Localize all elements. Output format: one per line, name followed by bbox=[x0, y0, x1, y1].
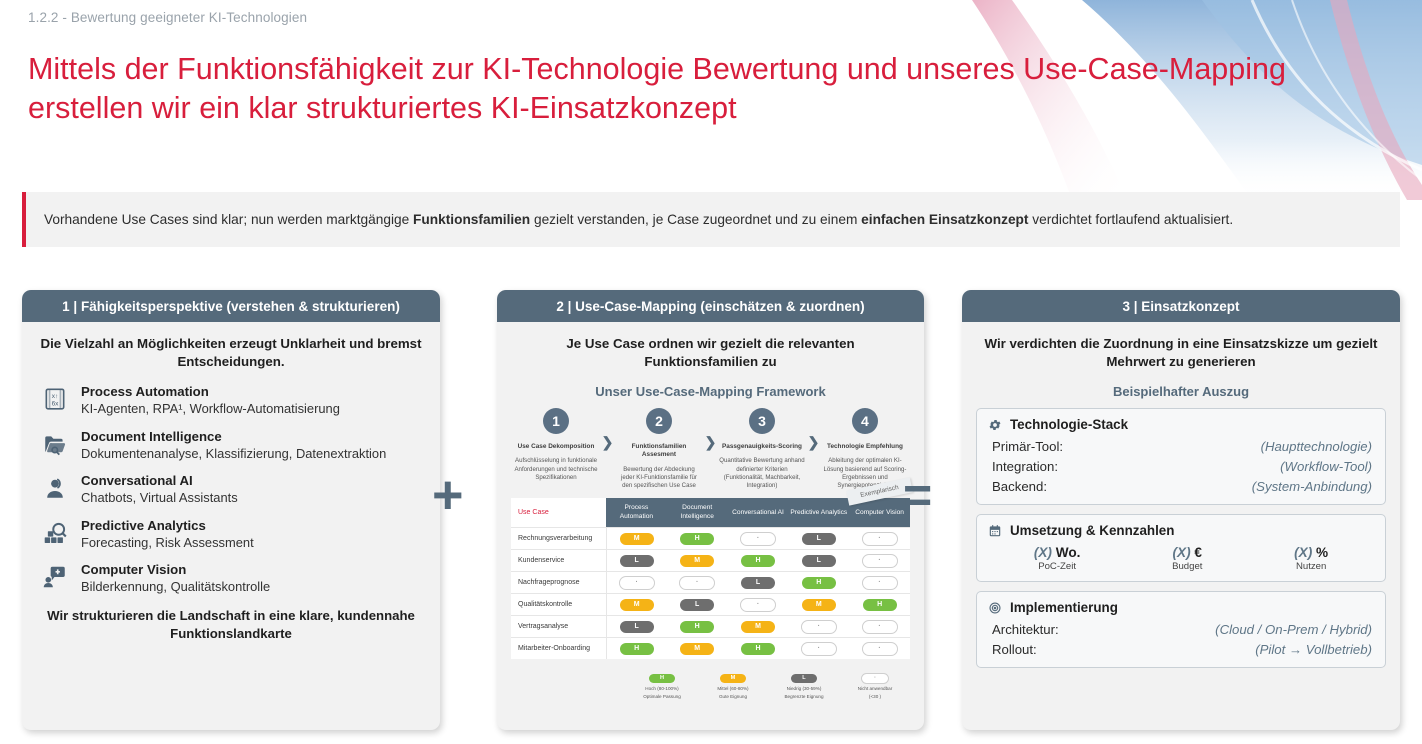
card-tech-title: Technologie-Stack bbox=[1010, 417, 1128, 432]
rating-badge: · bbox=[862, 554, 898, 568]
legend-label-2: Begrenzte Eignung bbox=[773, 694, 835, 700]
use-case-matrix: Use CaseProcess AutomationDocument Intel… bbox=[511, 498, 910, 659]
rating-badge: · bbox=[862, 620, 898, 634]
panel1-footer: Wir strukturieren die Landschaft in eine… bbox=[40, 607, 422, 643]
legend-badge: M bbox=[720, 674, 746, 683]
rating-badge: H bbox=[620, 643, 654, 655]
rating-badge: L bbox=[741, 577, 775, 589]
matrix-cell: · bbox=[728, 594, 789, 616]
card-umsetzung-kennzahlen: Umsetzung & Kennzahlen (X) Wo.PoC-Zeit(X… bbox=[976, 514, 1386, 582]
rating-badge: H bbox=[802, 577, 836, 589]
legend-label-2: Optimale Passung bbox=[631, 694, 693, 700]
matrix-column-header: Conversational AI bbox=[728, 498, 789, 528]
legend-badge: L bbox=[791, 674, 817, 683]
panel-einsatzkonzept: 3 | Einsatzkonzept Wir verdichten die Zu… bbox=[962, 290, 1400, 730]
rating-badge: H bbox=[741, 643, 775, 655]
framework-step: 2Funktionsfamilien AssesmentBewertung de… bbox=[616, 408, 702, 490]
capability-title: Process Automation bbox=[81, 384, 340, 400]
rating-badge: · bbox=[740, 598, 776, 612]
capability-desc: Chatbots, Virtual Assistants bbox=[81, 490, 238, 507]
slide-kicker: 1.2.2 - Bewertung geeigneter KI-Technolo… bbox=[28, 10, 307, 25]
matrix-cell: · bbox=[849, 572, 910, 594]
spec-key: Architektur: bbox=[992, 622, 1059, 637]
legend-item: ·Nicht anwendbar(<30 ) bbox=[844, 666, 906, 700]
step-number: 3 bbox=[749, 408, 775, 434]
panel-faehigkeitsperspektive: 1 | Fähigkeitsperspektive (verstehen & s… bbox=[22, 290, 440, 730]
callout-bold-2: einfachen Einsatzkonzept bbox=[861, 212, 1028, 227]
card-kpi-title: Umsetzung & Kennzahlen bbox=[1010, 523, 1174, 538]
rating-badge: M bbox=[802, 599, 836, 611]
matrix-cell: M bbox=[667, 638, 728, 660]
step-title: Passgenauigkeits-Scoring bbox=[719, 443, 805, 451]
chevron-right-icon: ❯ bbox=[602, 434, 614, 451]
rating-badge: · bbox=[679, 576, 715, 590]
matrix-row-label: Kundenservice bbox=[511, 550, 606, 572]
matrix-cell: L bbox=[606, 550, 667, 572]
card-impl-title: Implementierung bbox=[1010, 600, 1118, 615]
kpi-value: (X) % bbox=[1294, 545, 1328, 560]
legend-label-1: Niedrig (30-59%) bbox=[773, 686, 835, 692]
kpi-item: (X) %Nutzen bbox=[1294, 545, 1328, 572]
framework-step: 3Passgenauigkeits-ScoringQuantitative Be… bbox=[719, 408, 805, 490]
computer-vision-icon bbox=[40, 562, 70, 592]
framework-step: 1Use Case DekompositionAufschlüsselung i… bbox=[513, 408, 599, 482]
spec-row: Rollout:(Pilot → Vollbetrieb) bbox=[988, 639, 1374, 659]
capability-item: Predictive AnalyticsForecasting, Risk As… bbox=[40, 518, 426, 552]
matrix-cell: M bbox=[606, 528, 667, 550]
panel1-header: 1 | Fähigkeitsperspektive (verstehen & s… bbox=[22, 290, 440, 322]
spec-row: Primär-Tool:(Haupttechnologie) bbox=[988, 436, 1374, 456]
panel3-lead: Wir verdichten die Zuordnung in eine Ein… bbox=[976, 335, 1386, 371]
matrix-cell: · bbox=[788, 638, 849, 660]
kpi-item: (X) €Budget bbox=[1172, 545, 1202, 572]
legend-label-1: Nicht anwendbar bbox=[844, 686, 906, 692]
capability-title: Document Intelligence bbox=[81, 429, 386, 445]
spec-value: (Haupttechnologie) bbox=[1261, 439, 1372, 454]
matrix-wrapper: Exemplarisch Use CaseProcess AutomationD… bbox=[511, 498, 910, 700]
predictive-analytics-icon bbox=[40, 518, 70, 548]
matrix-row-label: Qualitätskontrolle bbox=[511, 594, 606, 616]
framework-step: 4Technologie EmpfehlungAbleitung der opt… bbox=[822, 408, 908, 490]
capability-item: Document IntelligenceDokumentenanalyse, … bbox=[40, 429, 426, 463]
legend-label-2: (<30 ) bbox=[844, 694, 906, 700]
step-number: 2 bbox=[646, 408, 672, 434]
table-row: VertragsanalyseLHM·· bbox=[511, 616, 910, 638]
rating-badge: H bbox=[680, 533, 714, 545]
rating-badge: · bbox=[740, 532, 776, 546]
framework-steps: 1Use Case DekompositionAufschlüsselung i… bbox=[513, 408, 908, 490]
panel1-lead: Die Vielzahl an Möglichkeiten erzeugt Un… bbox=[36, 335, 426, 371]
matrix-cell: · bbox=[849, 550, 910, 572]
rating-badge: · bbox=[801, 620, 837, 634]
matrix-legend: HHoch (80-100%)Optimale PassungMMittel (… bbox=[511, 666, 910, 700]
process-automation-icon: x↑6x bbox=[40, 384, 70, 414]
legend-badge: · bbox=[861, 673, 889, 684]
matrix-cell: · bbox=[849, 528, 910, 550]
capability-title: Conversational AI bbox=[81, 473, 238, 489]
kpi-label: PoC-Zeit bbox=[1034, 561, 1081, 572]
matrix-cell: · bbox=[728, 528, 789, 550]
callout-bold-1: Funktionsfamilien bbox=[413, 212, 530, 227]
legend-label-1: Mittel (60-80%) bbox=[702, 686, 764, 692]
matrix-cell: L bbox=[788, 528, 849, 550]
svg-text:6x: 6x bbox=[52, 401, 60, 408]
matrix-row-label: Vertragsanalyse bbox=[511, 616, 606, 638]
panel3-header: 3 | Einsatzkonzept bbox=[962, 290, 1400, 322]
rating-badge: · bbox=[862, 576, 898, 590]
matrix-cell: H bbox=[788, 572, 849, 594]
page-title: Mittels der Funktionsfähigkeit zur KI-Te… bbox=[28, 50, 1318, 128]
table-row: RechnungsverarbeitungMH·L· bbox=[511, 528, 910, 550]
panel-use-case-mapping: 2 | Use-Case-Mapping (einschätzen & zuor… bbox=[497, 290, 924, 730]
step-desc: Aufschlüsselung in funktionale Anforderu… bbox=[513, 457, 599, 482]
callout-box: Vorhandene Use Cases sind klar; nun werd… bbox=[22, 192, 1400, 247]
kpi-label: Nutzen bbox=[1294, 561, 1328, 572]
rating-badge: M bbox=[741, 621, 775, 633]
matrix-cell: · bbox=[788, 616, 849, 638]
callout-text-2: gezielt verstanden, je Case zugeordnet u… bbox=[530, 212, 861, 227]
spec-value: (Pilot → Vollbetrieb) bbox=[1255, 642, 1372, 657]
rating-badge: L bbox=[680, 599, 714, 611]
step-number: 4 bbox=[852, 408, 878, 434]
legend-label-2: Gute Eignung bbox=[702, 694, 764, 700]
callout-text-1: Vorhandene Use Cases sind klar; nun werd… bbox=[44, 212, 413, 227]
conversational-ai-icon bbox=[40, 473, 70, 503]
kpi-value: (X) Wo. bbox=[1034, 545, 1081, 560]
panel2-lead: Je Use Case ordnen wir gezielt die relev… bbox=[511, 335, 910, 371]
rating-badge: · bbox=[801, 642, 837, 656]
target-icon bbox=[988, 601, 1002, 615]
table-row: QualitätskontrolleML·MH bbox=[511, 594, 910, 616]
chevron-right-icon: ❯ bbox=[705, 434, 717, 451]
step-title: Use Case Dekomposition bbox=[513, 443, 599, 451]
rating-badge: H bbox=[680, 621, 714, 633]
capability-item: Conversational AIChatbots, Virtual Assis… bbox=[40, 473, 426, 507]
spec-value: (Workflow-Tool) bbox=[1280, 459, 1372, 474]
spec-row: Architektur:(Cloud / On-Prem / Hybrid) bbox=[988, 619, 1374, 639]
capability-item: x↑6xProcess AutomationKI-Agenten, RPA¹, … bbox=[40, 384, 426, 418]
matrix-cell: H bbox=[667, 616, 728, 638]
rating-badge: M bbox=[680, 555, 714, 567]
capability-desc: KI-Agenten, RPA¹, Workflow-Automatisieru… bbox=[81, 401, 340, 418]
matrix-cell: H bbox=[849, 594, 910, 616]
matrix-cell: H bbox=[606, 638, 667, 660]
capability-desc: Bilderkennung, Qualitätskontrolle bbox=[81, 579, 270, 596]
spec-row: Integration:(Workflow-Tool) bbox=[988, 456, 1374, 476]
matrix-row-label: Mitarbeiter-Onboarding bbox=[511, 638, 606, 660]
gear-icon bbox=[988, 418, 1002, 432]
spec-key: Backend: bbox=[992, 479, 1047, 494]
rating-badge: L bbox=[620, 555, 654, 567]
matrix-cell: · bbox=[849, 616, 910, 638]
three-column-layout: 1 | Fähigkeitsperspektive (verstehen & s… bbox=[22, 290, 1400, 730]
matrix-cell: H bbox=[728, 550, 789, 572]
plus-connector: + bbox=[432, 468, 464, 522]
matrix-cell: M bbox=[728, 616, 789, 638]
rating-badge: L bbox=[620, 621, 654, 633]
matrix-cell: · bbox=[667, 572, 728, 594]
equals-connector: = bbox=[903, 470, 932, 520]
spec-key: Rollout: bbox=[992, 642, 1037, 657]
card-implementierung: Implementierung Architektur:(Cloud / On-… bbox=[976, 591, 1386, 668]
rating-badge: H bbox=[741, 555, 775, 567]
table-row: KundenserviceLMHL· bbox=[511, 550, 910, 572]
step-desc: Quantitative Bewertung anhand definierte… bbox=[719, 457, 805, 490]
kpi-value: (X) € bbox=[1172, 545, 1202, 560]
matrix-cell: · bbox=[606, 572, 667, 594]
rating-badge: · bbox=[619, 576, 655, 590]
legend-item: MMittel (60-80%)Gute Eignung bbox=[702, 666, 764, 700]
card-technologie-stack: Technologie-Stack Primär-Tool:(Haupttech… bbox=[976, 408, 1386, 505]
matrix-cell: L bbox=[667, 594, 728, 616]
capability-title: Predictive Analytics bbox=[81, 518, 254, 534]
matrix-cell: L bbox=[728, 572, 789, 594]
rating-badge: · bbox=[862, 642, 898, 656]
matrix-column-header: Document Intelligence bbox=[667, 498, 728, 528]
chevron-right-icon: ❯ bbox=[808, 434, 820, 451]
spec-key: Integration: bbox=[992, 459, 1058, 474]
rating-badge: M bbox=[620, 533, 654, 545]
matrix-cell: · bbox=[849, 638, 910, 660]
matrix-column-header: Predictive Analytics bbox=[788, 498, 849, 528]
rating-badge: L bbox=[802, 533, 836, 545]
rating-badge: · bbox=[862, 532, 898, 546]
rating-badge: M bbox=[620, 599, 654, 611]
step-desc: Bewertung der Abdeckung jeder KI-Funktio… bbox=[616, 466, 702, 491]
legend-item: HHoch (80-100%)Optimale Passung bbox=[631, 666, 693, 700]
matrix-cell: L bbox=[788, 550, 849, 572]
framework-title: Unser Use-Case-Mapping Framework bbox=[511, 384, 910, 399]
capability-title: Computer Vision bbox=[81, 562, 270, 578]
matrix-cell: M bbox=[606, 594, 667, 616]
matrix-row-label: Nachfrageprognose bbox=[511, 572, 606, 594]
panel3-sublead: Beispielhafter Auszug bbox=[976, 384, 1386, 399]
document-intelligence-icon bbox=[40, 429, 70, 459]
kpi-item: (X) Wo.PoC-Zeit bbox=[1034, 545, 1081, 572]
kpi-label: Budget bbox=[1172, 561, 1202, 572]
rating-badge: L bbox=[802, 555, 836, 567]
legend-item: LNiedrig (30-59%)Begrenzte Eignung bbox=[773, 666, 835, 700]
capability-item: Computer VisionBilderkennung, Qualitätsk… bbox=[40, 562, 426, 596]
step-title: Technologie Empfehlung bbox=[822, 443, 908, 451]
table-row: Nachfrageprognose··LH· bbox=[511, 572, 910, 594]
step-title: Funktionsfamilien Assesment bbox=[616, 443, 702, 460]
calendar-icon bbox=[988, 524, 1002, 538]
svg-text:x↑: x↑ bbox=[52, 393, 59, 400]
matrix-cell: M bbox=[667, 550, 728, 572]
step-number: 1 bbox=[543, 408, 569, 434]
matrix-cell: M bbox=[788, 594, 849, 616]
rating-badge: H bbox=[863, 599, 897, 611]
matrix-cell: H bbox=[667, 528, 728, 550]
matrix-cell: H bbox=[728, 638, 789, 660]
matrix-column-header: Process Automation bbox=[606, 498, 667, 528]
rating-badge: M bbox=[680, 643, 714, 655]
legend-label-1: Hoch (80-100%) bbox=[631, 686, 693, 692]
spec-row: Backend:(System-Anbindung) bbox=[988, 476, 1374, 496]
capability-desc: Forecasting, Risk Assessment bbox=[81, 535, 254, 552]
matrix-row-label: Rechnungsverarbeitung bbox=[511, 528, 606, 550]
panel2-header: 2 | Use-Case-Mapping (einschätzen & zuor… bbox=[497, 290, 924, 322]
capability-desc: Dokumentenanalyse, Klassifizierung, Date… bbox=[81, 446, 386, 463]
spec-key: Primär-Tool: bbox=[992, 439, 1063, 454]
matrix-corner-label: Use Case bbox=[511, 498, 606, 528]
spec-value: (Cloud / On-Prem / Hybrid) bbox=[1215, 622, 1372, 637]
table-row: Mitarbeiter-OnboardingHMH·· bbox=[511, 638, 910, 660]
callout-text-3: verdichtet fortlaufend aktualisiert. bbox=[1028, 212, 1233, 227]
spec-value: (System-Anbindung) bbox=[1252, 479, 1372, 494]
legend-badge: H bbox=[649, 674, 675, 683]
matrix-cell: L bbox=[606, 616, 667, 638]
